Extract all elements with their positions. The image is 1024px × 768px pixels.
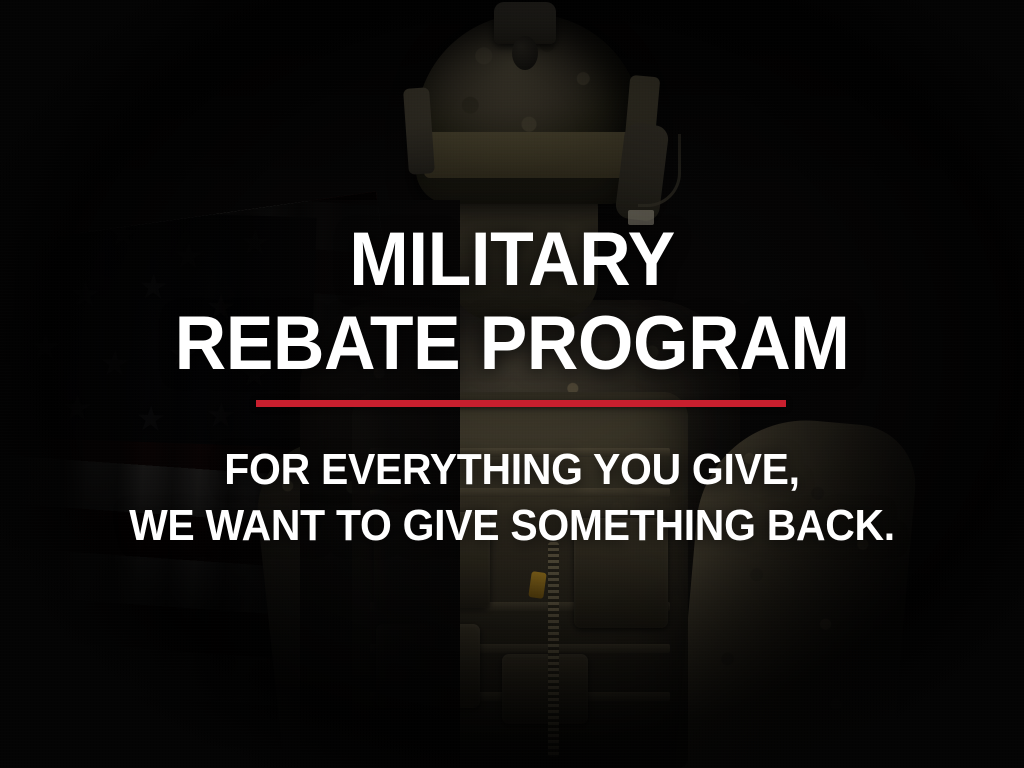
subheadline-line-1: FOR EVERYTHING YOU GIVE, — [36, 448, 988, 492]
text-overlay: MILITARY REBATE PROGRAM FOR EVERYTHING Y… — [0, 0, 1024, 768]
military-rebate-banner: ★ ★ ★ ★ ★ ★ ★ ★ ★ ★ ★ ★ ★ ★ — [0, 0, 1024, 768]
headline-line-1: MILITARY — [31, 222, 994, 298]
subheadline-line-2: WE WANT TO GIVE SOMETHING BACK. — [36, 504, 988, 548]
headline-line-2: REBATE PROGRAM — [31, 306, 994, 382]
red-divider-rule — [256, 400, 786, 407]
